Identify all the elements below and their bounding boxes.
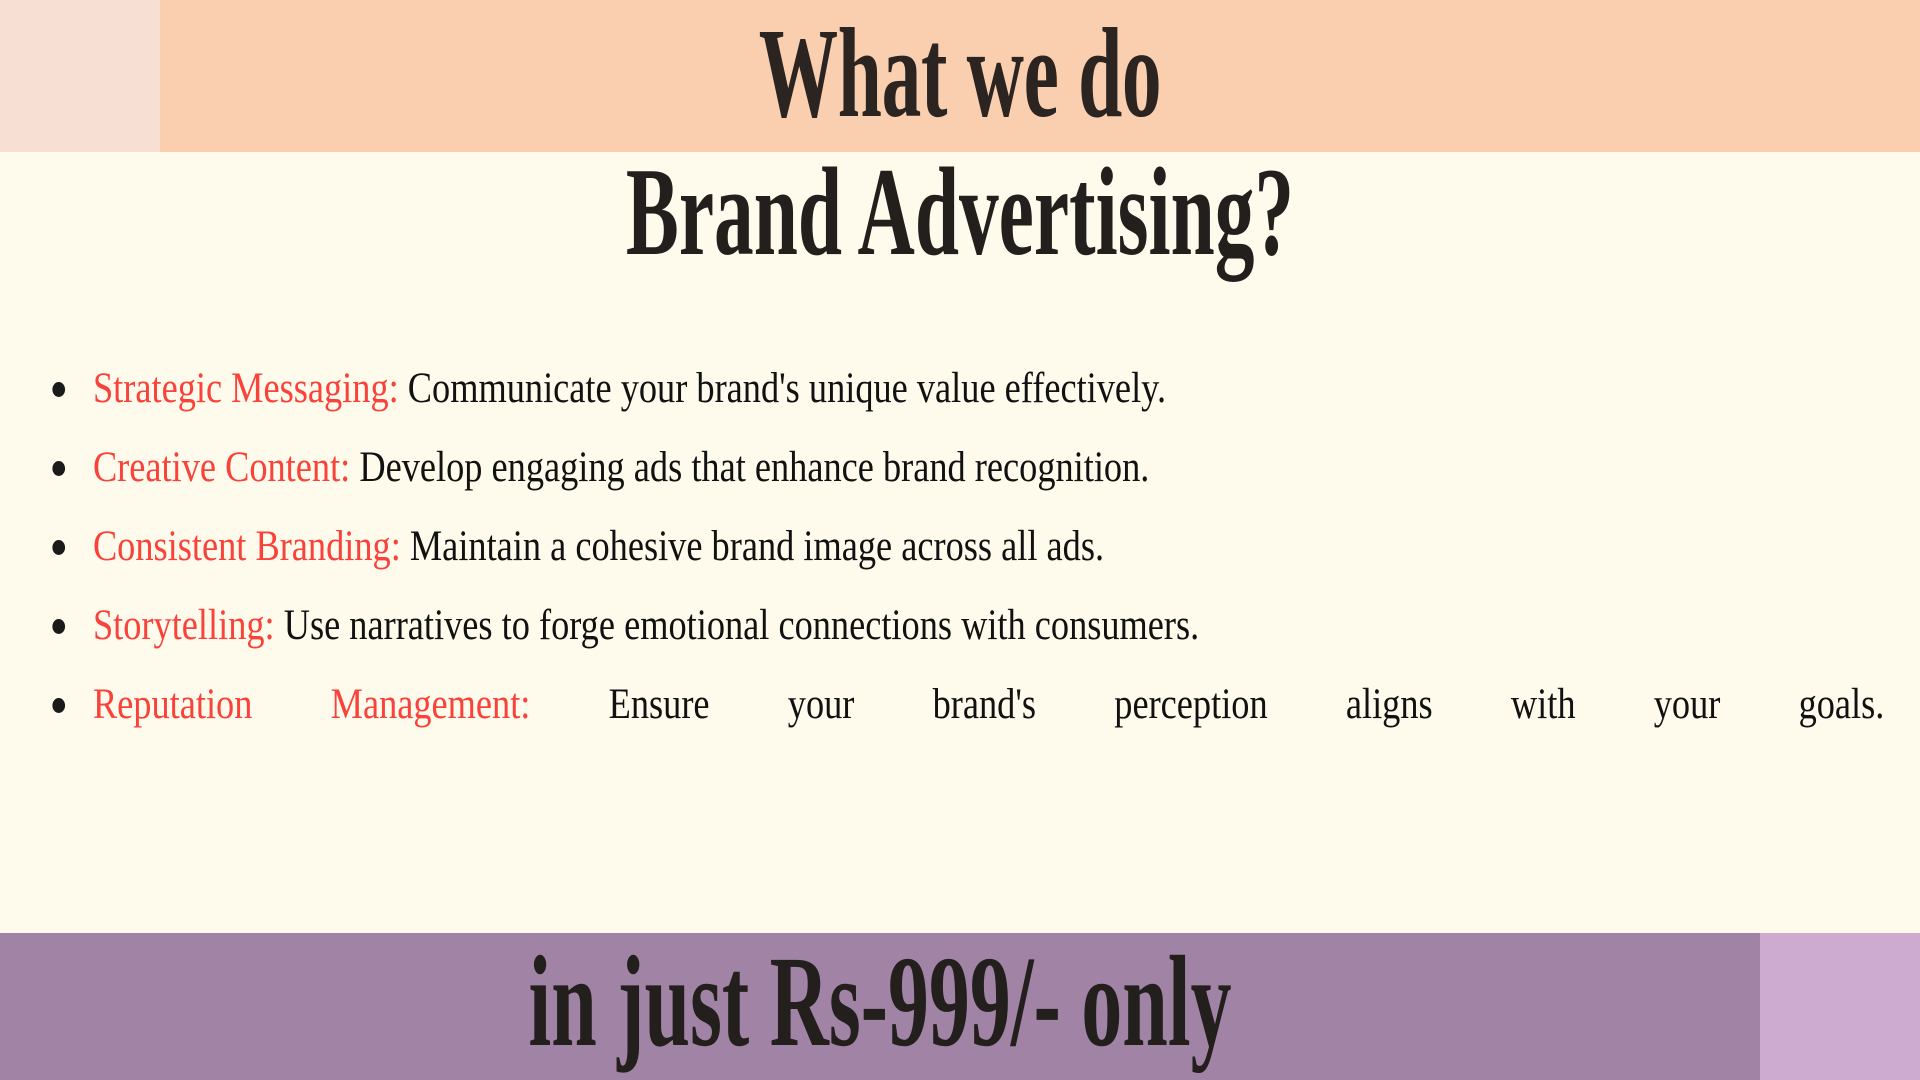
header-left-accent-block — [0, 0, 160, 152]
footer-dark-block: in just Rs-999/- only — [0, 933, 1760, 1080]
list-item: Creative Content: Develop engaging ads t… — [0, 434, 1910, 501]
bullet-dot-icon — [52, 540, 65, 555]
bullet-text: Develop engaging ads that enhance brand … — [350, 444, 1149, 491]
footer-band: in just Rs-999/- only — [0, 933, 1920, 1080]
bullet-label: Strategic Messaging: — [93, 365, 399, 412]
bullet-dot-icon — [52, 698, 65, 713]
bullet-text: Ensure your brand's perception aligns wi… — [530, 681, 1884, 728]
bullet-dot-icon — [52, 619, 65, 634]
list-item: Storytelling: Use narratives to forge em… — [0, 592, 1910, 659]
bullet-text: Use narratives to forge emotional connec… — [275, 602, 1200, 649]
bullet-text: Communicate your brand's unique value ef… — [399, 365, 1166, 412]
price-callout: in just Rs-999/- only — [326, 933, 1435, 1080]
bullet-label: Storytelling: — [93, 602, 275, 649]
header-title: What we do — [365, 0, 1555, 152]
bullet-label: Creative Content: — [93, 444, 350, 491]
header-band: What we do — [0, 0, 1920, 152]
bullet-dot-icon — [52, 461, 65, 476]
list-item: Reputation Management: Ensure your brand… — [0, 671, 1910, 805]
bullet-dot-icon — [52, 382, 65, 397]
bullet-label: Consistent Branding: — [93, 523, 401, 570]
list-item: Consistent Branding: Maintain a cohesive… — [0, 513, 1910, 580]
list-item: Strategic Messaging: Communicate your br… — [0, 355, 1910, 422]
feature-bullet-list: Strategic Messaging: Communicate your br… — [0, 355, 1920, 805]
bullet-text: Maintain a cohesive brand image across a… — [401, 523, 1104, 570]
page-title: Brand Advertising? — [355, 148, 1565, 278]
bullet-label: Reputation Management: — [93, 681, 530, 728]
